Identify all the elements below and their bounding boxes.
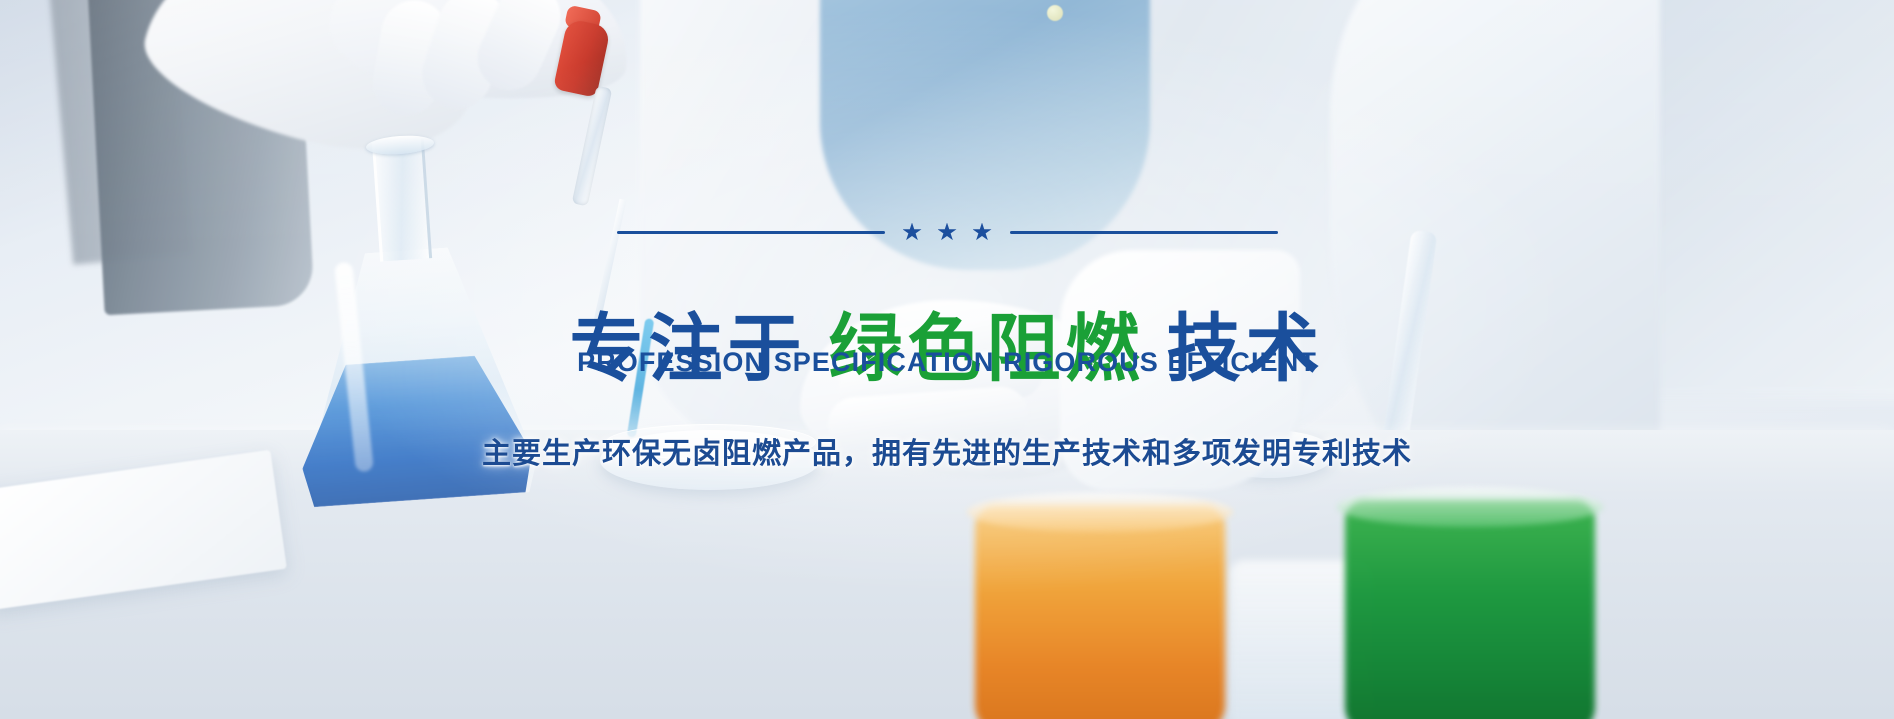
star-icon [903,223,922,242]
decorative-rule-left [617,231,885,234]
star-group [897,223,998,242]
decorative-rule-right [1010,231,1278,234]
title-decoration-row [0,222,1894,242]
banner-subtitle-english: PROFESSION SPECIFICATION RIGOROUS EFFICI… [0,347,1894,378]
banner-content: 专注于绿色阻燃技术 PROFESSION SPECIFICATION RIGOR… [0,0,1894,719]
hero-banner: 专注于绿色阻燃技术 PROFESSION SPECIFICATION RIGOR… [0,0,1894,719]
star-icon [973,223,992,242]
banner-tagline-chinese: 主要生产环保无卤阻燃产品，拥有先进的生产技术和多项发明专利技术 [0,430,1894,472]
star-icon [938,223,957,242]
